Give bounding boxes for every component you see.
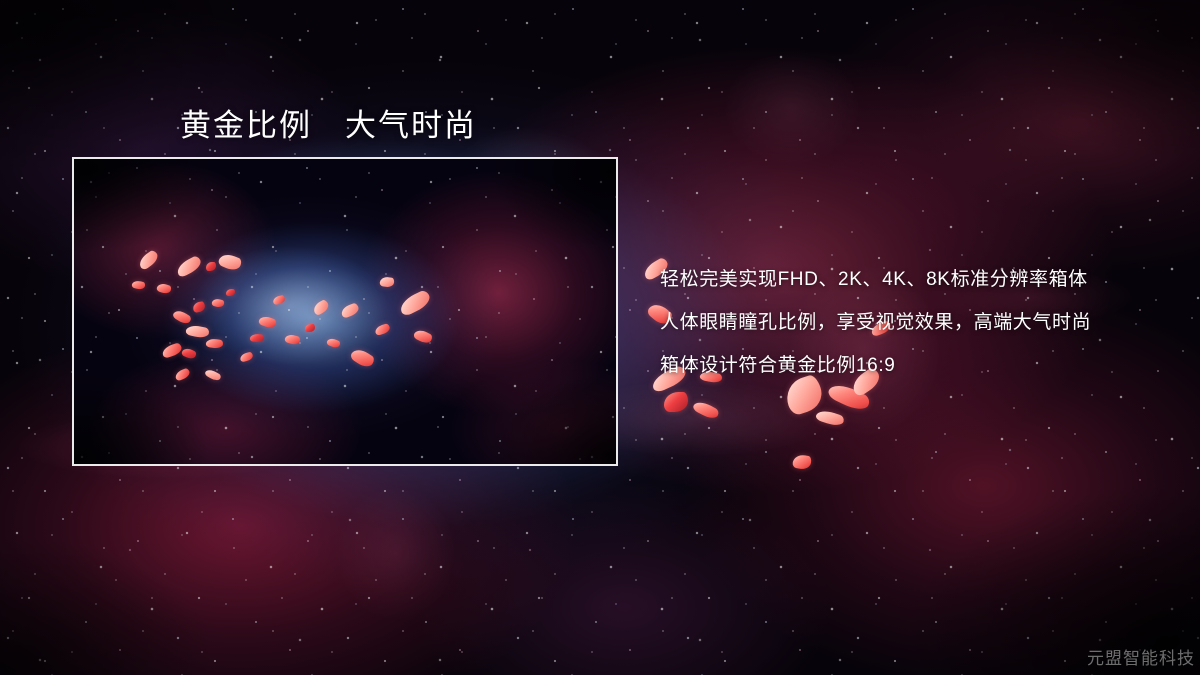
body-line-2: 人体眼睛瞳孔比例，享受视觉效果，高端大气时尚 [660, 301, 1160, 344]
body-copy-block: 轻松完美实现FHD、2K、4K、8K标准分辨率箱体 人体眼睛瞳孔比例，享受视觉效… [660, 258, 1160, 387]
body-line-1: 轻松完美实现FHD、2K、4K、8K标准分辨率箱体 [660, 258, 1160, 301]
slide-canvas: 黄金比例 大气时尚 轻松完美实现FHD、2K、4K、8K标准分辨率箱体 人体眼睛… [0, 0, 1200, 675]
watermark-text: 元盟智能科技 [1087, 644, 1195, 669]
body-line-3: 箱体设计符合黄金比例16:9 [660, 344, 1160, 387]
nebula-image-frame [72, 157, 618, 466]
page-title: 黄金比例 大气时尚 [180, 100, 477, 145]
